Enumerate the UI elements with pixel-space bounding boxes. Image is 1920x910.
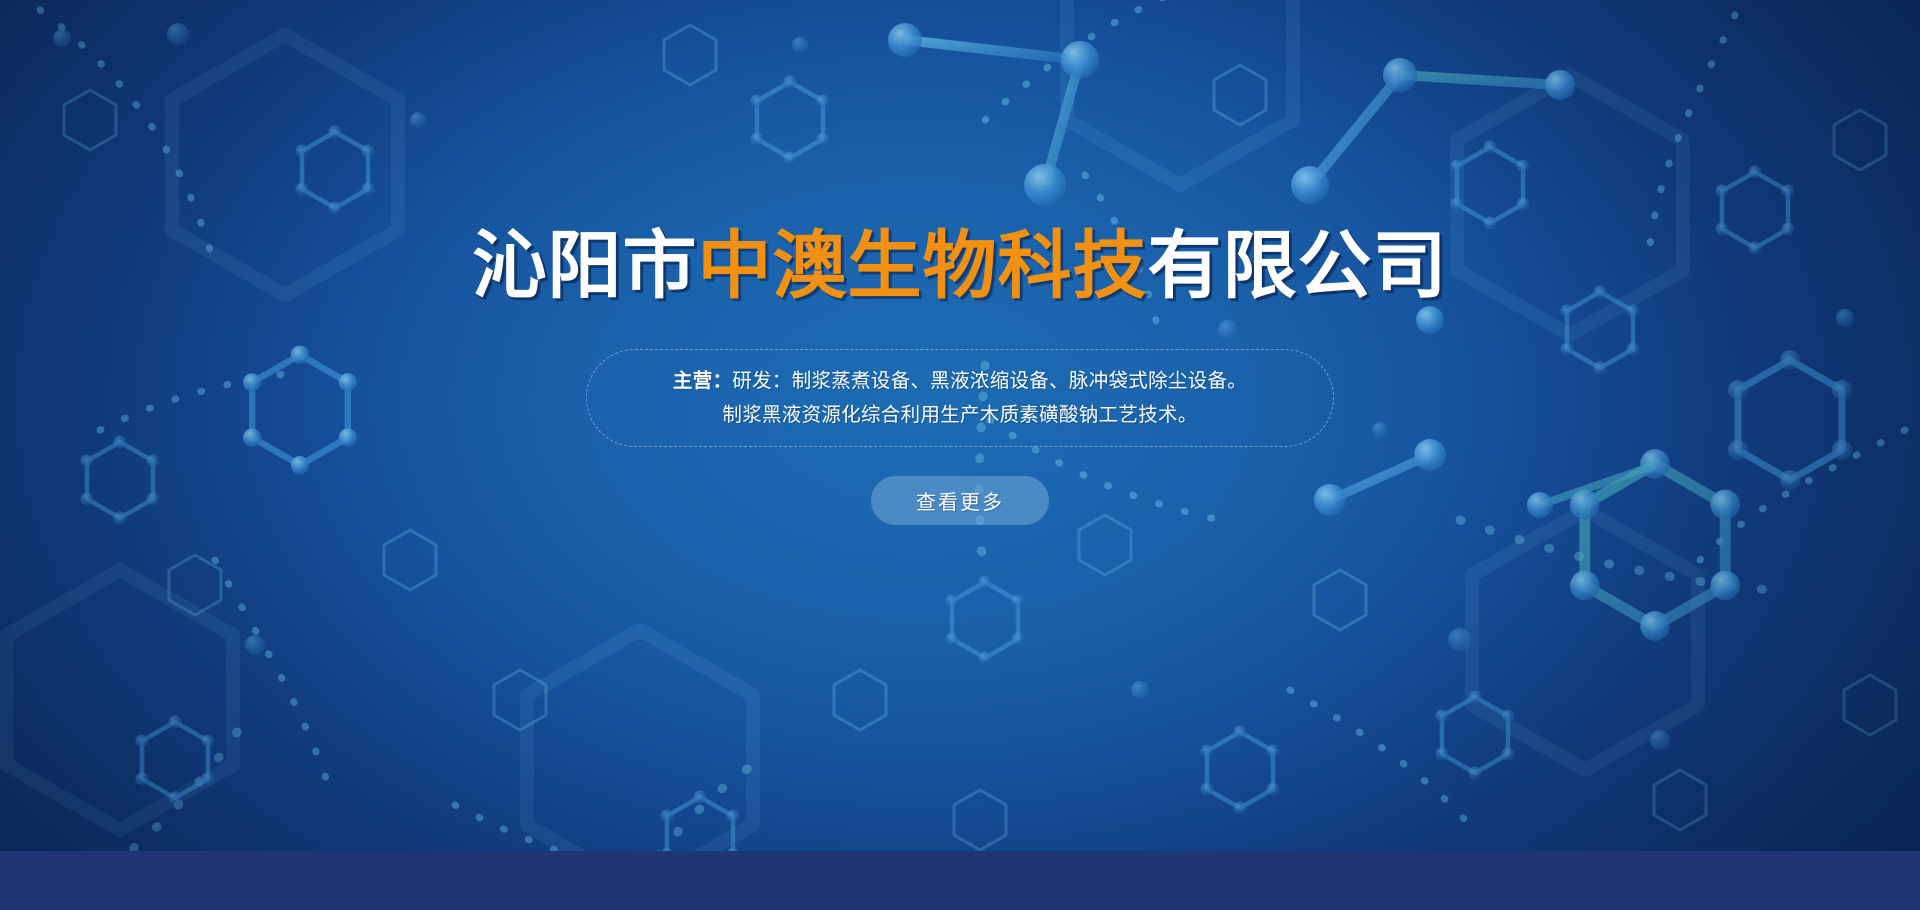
page-title: 沁阳市中澳生物科技有限公司 xyxy=(473,229,1448,303)
title-suffix: 有限公司 xyxy=(1148,224,1448,307)
hero-banner: 沁阳市中澳生物科技有限公司 主营：研发：制浆蒸煮设备、黑液浓缩设备、脉冲袋式除尘… xyxy=(0,0,1920,910)
bottom-band xyxy=(0,851,1920,910)
title-prefix: 沁阳市 xyxy=(473,224,698,307)
tagline-line-1-text: 研发：制浆蒸煮设备、黑液浓缩设备、脉冲袋式除尘设备。 xyxy=(732,370,1247,392)
hero-content: 沁阳市中澳生物科技有限公司 主营：研发：制浆蒸煮设备、黑液浓缩设备、脉冲袋式除尘… xyxy=(0,0,1920,851)
tagline-lead: 主营： xyxy=(673,370,732,392)
tagline-line-1: 主营：研发：制浆蒸煮设备、黑液浓缩设备、脉冲袋式除尘设备。 xyxy=(673,369,1247,393)
tagline-line-2: 制浆黑液资源化综合利用生产木质素磺酸钠工艺技术。 xyxy=(722,403,1197,427)
tagline-box: 主营：研发：制浆蒸煮设备、黑液浓缩设备、脉冲袋式除尘设备。 制浆黑液资源化综合利… xyxy=(586,349,1334,447)
title-accent: 中澳生物科技 xyxy=(698,224,1148,307)
view-more-button[interactable]: 查看更多 xyxy=(871,476,1049,525)
